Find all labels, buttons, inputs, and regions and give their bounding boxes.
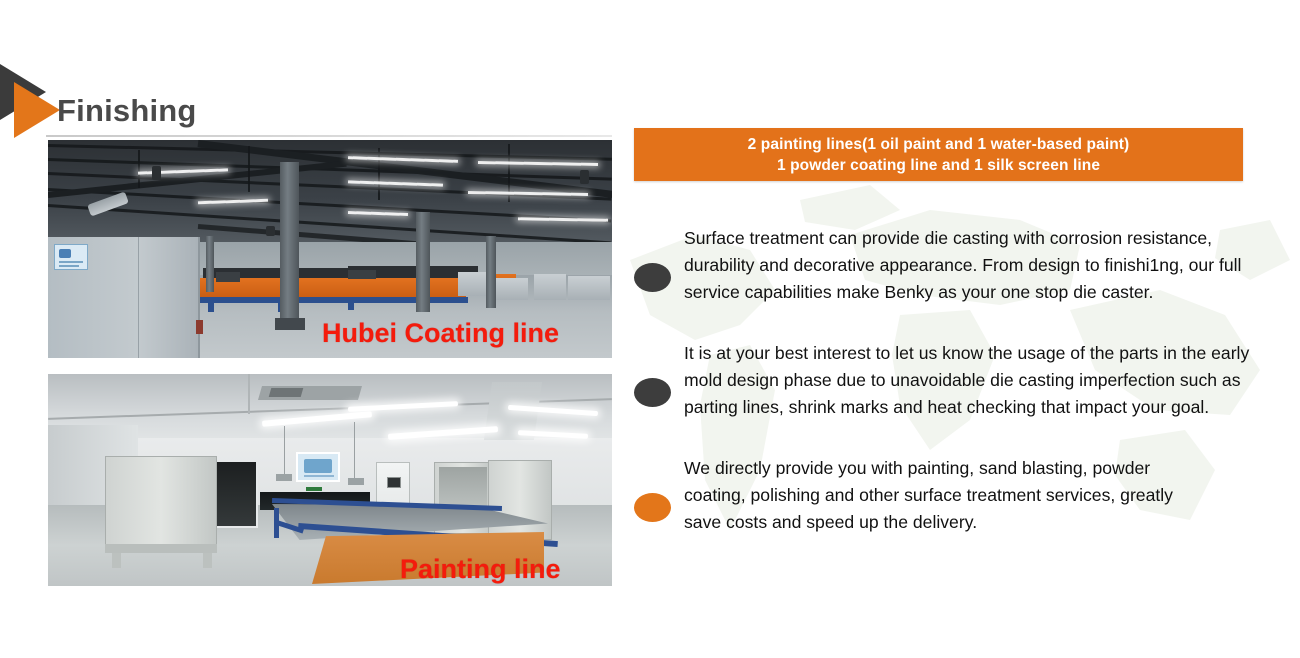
bullet-dot-1 bbox=[634, 263, 671, 292]
banner-painting-lines: 2 painting lines(1 oil paint and 1 water… bbox=[634, 128, 1243, 181]
page-title: Finishing bbox=[57, 93, 197, 129]
banner-line-1: 2 painting lines(1 oil paint and 1 water… bbox=[748, 134, 1130, 155]
bullet-dot-2 bbox=[634, 378, 671, 407]
photo1-caption: Hubei Coating line bbox=[322, 318, 559, 349]
play-arrow-logo-icon bbox=[0, 62, 62, 144]
painting-line-photo: Painting line bbox=[48, 374, 612, 586]
photo2-wall-poster bbox=[296, 452, 340, 482]
banner-line-2: 1 powder coating line and 1 silk screen … bbox=[777, 155, 1100, 176]
photo2-caption: Painting line bbox=[400, 554, 561, 585]
photo1-enclosure bbox=[48, 237, 200, 358]
photo2-dark-doorway bbox=[214, 460, 258, 528]
photo1-safety-sign bbox=[54, 244, 88, 270]
bullet-item-3: We directly provide you with painting, s… bbox=[634, 455, 1274, 536]
photo2-cabinet-right-outer bbox=[488, 460, 552, 540]
bullet-text-1: Surface treatment can provide die castin… bbox=[684, 225, 1274, 306]
bullet-list: Surface treatment can provide die castin… bbox=[634, 225, 1274, 570]
photo2-cabinet-left bbox=[105, 456, 217, 552]
bullet-item-1: Surface treatment can provide die castin… bbox=[634, 225, 1274, 306]
bullet-text-2: It is at your best interest to let us kn… bbox=[684, 340, 1274, 421]
bullet-text-3: We directly provide you with painting, s… bbox=[684, 455, 1174, 536]
slide-root: Finishing bbox=[0, 0, 1300, 658]
title-divider bbox=[46, 135, 612, 137]
hubei-coating-line-photo: Hubei Coating line bbox=[48, 140, 612, 358]
bullet-item-2: It is at your best interest to let us kn… bbox=[634, 340, 1274, 421]
bullet-dot-3 bbox=[634, 493, 671, 522]
